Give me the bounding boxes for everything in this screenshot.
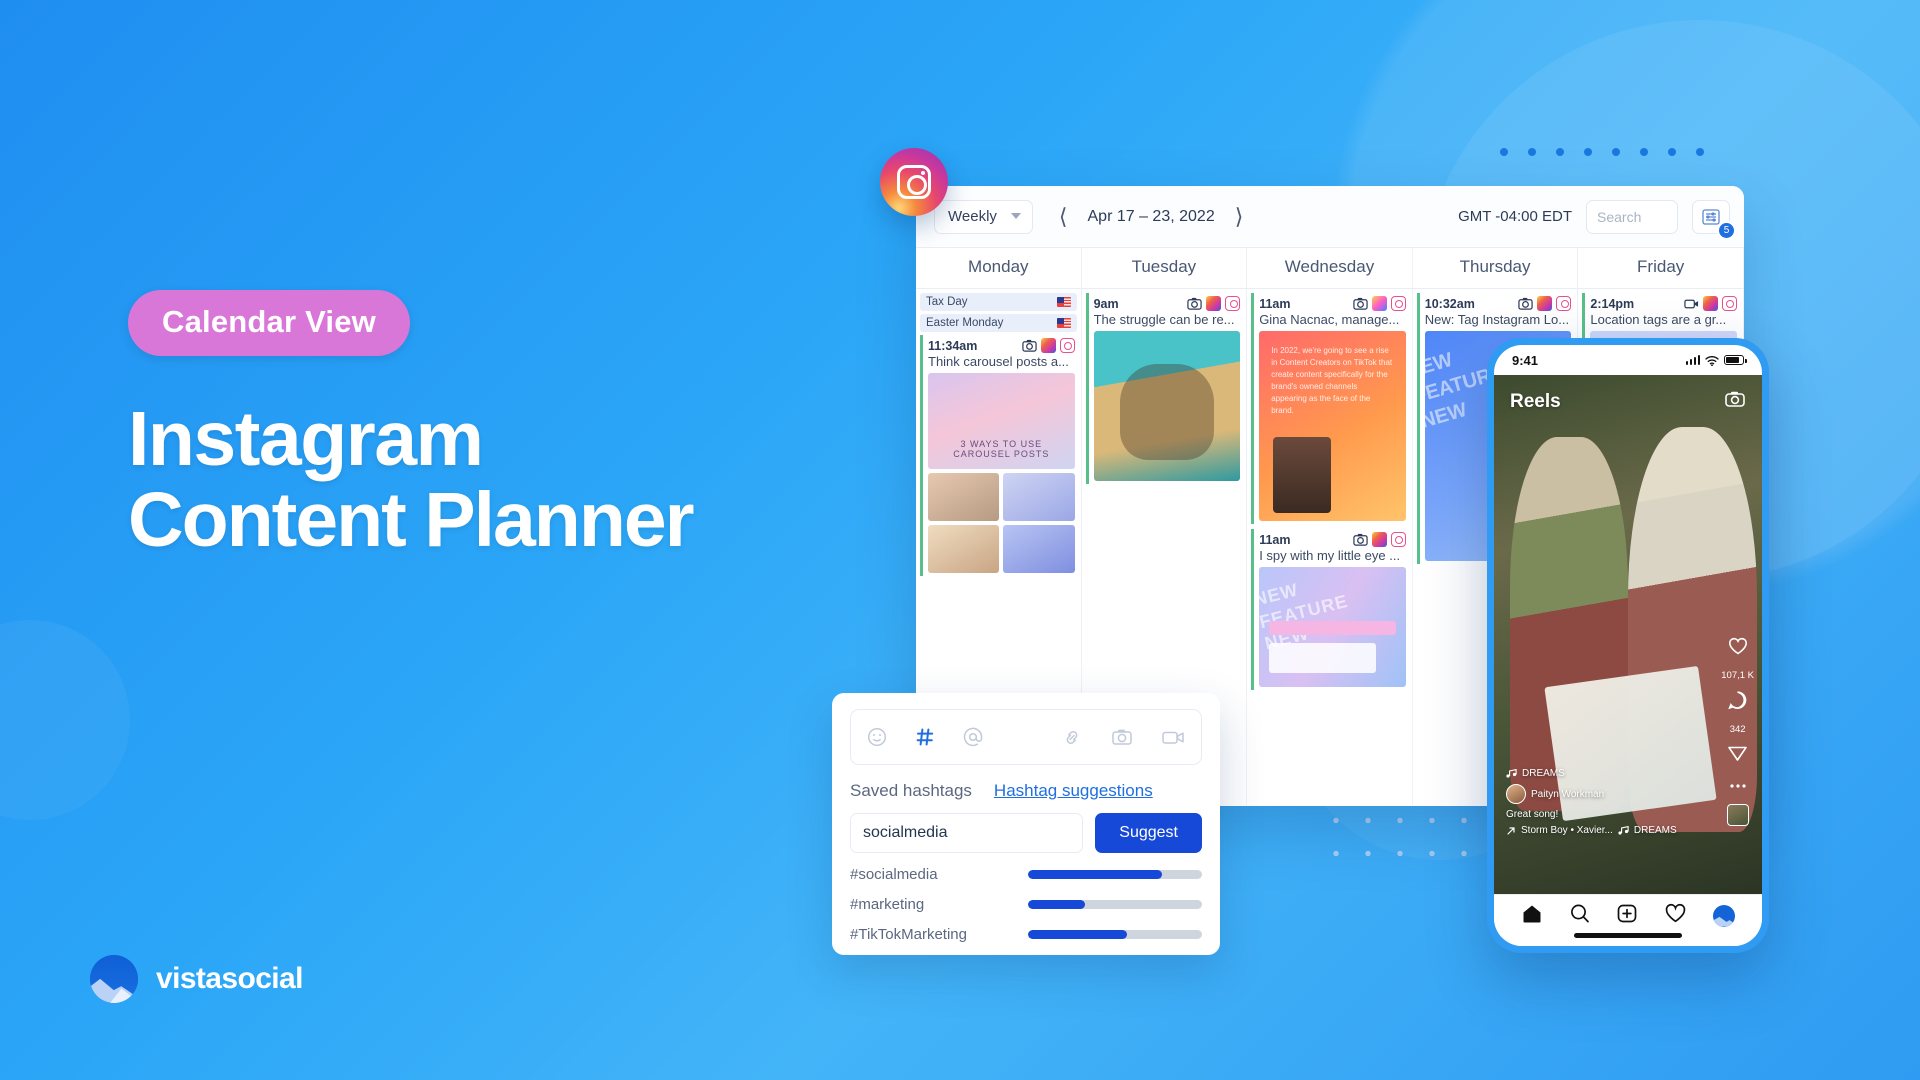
post-icon-group xyxy=(1187,296,1240,311)
gradient-square-icon xyxy=(1206,296,1221,311)
audio-thumbnail-icon[interactable] xyxy=(1727,804,1749,826)
reel-audio-track: Storm Boy • Xavier... xyxy=(1521,825,1613,836)
video-camera-icon xyxy=(1684,296,1699,311)
us-flag-icon xyxy=(1057,297,1071,307)
post-icon-group xyxy=(1353,296,1406,311)
hashtag-suggestion-row: #TikTokMarketing xyxy=(850,926,1202,943)
composer-toolbar xyxy=(850,709,1202,765)
reels-video[interactable]: Reels 107,1 K 342 xyxy=(1494,375,1762,894)
filter-settings-button[interactable]: 5 xyxy=(1692,200,1730,234)
comment-icon[interactable] xyxy=(1727,690,1748,715)
thumbnail-tile xyxy=(928,525,999,573)
hashtag-suggestion-row: #socialmedia xyxy=(850,866,1202,883)
post-time: 11am xyxy=(1259,533,1290,547)
cellular-bars-icon xyxy=(1686,355,1701,365)
gradient-square-icon xyxy=(1537,296,1552,311)
mention-icon[interactable] xyxy=(963,727,983,747)
instagram-icon xyxy=(1060,338,1075,353)
gradient-square-icon xyxy=(1372,532,1387,547)
chevron-right-icon[interactable]: ⟩ xyxy=(1231,204,1248,230)
us-flag-icon xyxy=(1057,318,1071,328)
reels-title: Reels xyxy=(1510,391,1561,413)
activity-heart-icon[interactable] xyxy=(1664,903,1687,929)
add-post-icon[interactable] xyxy=(1616,903,1638,929)
audio-tag-label-bottom: DREAMS xyxy=(1634,825,1677,836)
emoji-icon[interactable] xyxy=(867,727,887,747)
timezone-label: GMT -04:00 EDT xyxy=(1458,208,1572,225)
hashtag-label: #socialmedia xyxy=(850,866,1028,883)
agorapulse-icon xyxy=(1372,296,1387,311)
post-thumbnail xyxy=(1094,331,1241,481)
more-dots-icon[interactable] xyxy=(1728,777,1748,795)
calendar-post-card[interactable]: 11am Gina Nacnac, manage... In 2022, we'… xyxy=(1251,293,1408,524)
filter-count-badge: 5 xyxy=(1717,221,1736,240)
day-header-wednesday: Wednesday xyxy=(1247,248,1413,288)
post-text: Gina Nacnac, manage... xyxy=(1259,312,1406,327)
phone-mockup: 9:41 Reels 107,1 K xyxy=(1487,338,1769,953)
hashtag-panel: Saved hashtags Hashtag suggestions socia… xyxy=(832,693,1220,955)
chevron-down-icon xyxy=(1011,213,1021,219)
instagram-icon xyxy=(1391,532,1406,547)
reel-caption-text-row: Great song! xyxy=(1506,809,1677,820)
post-thumbnail: NEW FEATURE NEW xyxy=(1259,567,1406,687)
day-column-wednesday: 11am Gina Nacnac, manage... In 2022, we'… xyxy=(1247,289,1413,805)
holiday-chip: Easter Monday xyxy=(920,314,1077,332)
holiday-label: Easter Monday xyxy=(926,317,1003,329)
reel-caption-text: Great song! xyxy=(1506,809,1558,820)
instagram-logo-badge xyxy=(880,148,948,216)
gradient-square-icon xyxy=(1041,338,1056,353)
post-text: The struggle can be re... xyxy=(1094,312,1241,327)
post-thumbnail-grid xyxy=(928,473,1075,573)
instagram-icon xyxy=(1391,296,1406,311)
hashtag-suggestion-row: #marketing xyxy=(850,896,1202,913)
reel-action-rail: 107,1 K 342 xyxy=(1721,636,1754,826)
search-input[interactable]: Search xyxy=(1586,200,1678,234)
instagram-icon xyxy=(1556,296,1571,311)
avatar xyxy=(1506,784,1526,804)
hashtag-strength-bar xyxy=(1028,870,1202,879)
instagram-icon xyxy=(1722,296,1737,311)
calendar-post-card[interactable]: 11am I spy with my little eye ... NEW FE… xyxy=(1251,529,1408,690)
hashtag-icon[interactable] xyxy=(915,727,935,747)
date-range-label: Apr 17 – 23, 2022 xyxy=(1088,208,1215,226)
post-icon-group xyxy=(1022,338,1075,353)
tab-hashtag-suggestions[interactable]: Hashtag suggestions xyxy=(994,781,1153,801)
hashtag-strength-bar xyxy=(1028,930,1202,939)
post-thumbnail-caption: 3 WAYS TO USE CAROUSEL POSTS xyxy=(936,439,1067,459)
vistasocial-mountain-logo-icon xyxy=(90,955,138,1003)
audio-note-icon xyxy=(1506,769,1517,778)
wifi-icon xyxy=(1705,355,1719,366)
thumbnail-portrait xyxy=(1273,437,1331,513)
page-title: Instagram Content Planner xyxy=(128,402,848,557)
camera-icon xyxy=(1353,532,1368,547)
camera-icon xyxy=(1353,296,1368,311)
instagram-icon xyxy=(1225,296,1240,311)
day-header-monday: Monday xyxy=(916,248,1082,288)
search-icon[interactable] xyxy=(1569,903,1591,929)
hashtag-label: #TikTokMarketing xyxy=(850,926,1028,943)
chevron-left-icon[interactable]: ⟨ xyxy=(1055,204,1072,230)
post-text: Think carousel posts a... xyxy=(928,354,1075,369)
post-thumbnail-quote: In 2022, we're going to see a rise in Co… xyxy=(1271,345,1394,417)
post-thumbnail: 3 WAYS TO USE CAROUSEL POSTS xyxy=(928,373,1075,469)
post-time: 11am xyxy=(1259,297,1290,311)
calendar-post-card[interactable]: 11:34am Think carousel posts a... 3 WAYS… xyxy=(920,335,1077,576)
reel-audio-row[interactable]: Storm Boy • Xavier... DREAMS xyxy=(1506,825,1677,836)
post-icon-group xyxy=(1518,296,1571,311)
page-title-line-1: Instagram xyxy=(128,396,483,482)
post-text: I spy with my little eye ... xyxy=(1259,548,1406,563)
view-select-weekly[interactable]: Weekly xyxy=(934,200,1033,234)
instagram-icon xyxy=(897,165,931,199)
hero-section: Calendar View Instagram Content Planner xyxy=(128,290,848,557)
calendar-day-headers: Monday Tuesday Wednesday Thursday Friday xyxy=(916,248,1744,289)
link-icon[interactable] xyxy=(1061,727,1083,747)
post-text: Location tags are a gr... xyxy=(1590,312,1737,327)
camera-icon xyxy=(1187,296,1202,311)
post-icon-group xyxy=(1353,532,1406,547)
hashtag-strength-bar xyxy=(1028,900,1202,909)
holiday-label: Tax Day xyxy=(926,296,968,308)
camera-icon xyxy=(1518,296,1533,311)
camera-icon[interactable] xyxy=(1111,727,1133,747)
profile-avatar-icon[interactable] xyxy=(1713,905,1735,927)
brand-logo: vistasocial xyxy=(90,955,303,1003)
post-time: 9am xyxy=(1094,297,1119,311)
day-header-friday: Friday xyxy=(1578,248,1744,288)
hashtag-input[interactable]: socialmedia xyxy=(850,813,1083,853)
camera-icon xyxy=(1022,338,1037,353)
status-time: 9:41 xyxy=(1512,353,1538,368)
toolbar-right-group: GMT -04:00 EDT Search 5 xyxy=(1458,200,1730,234)
phone-screen: 9:41 Reels 107,1 K xyxy=(1494,345,1762,946)
video-icon[interactable] xyxy=(1161,727,1185,747)
date-navigation: ⟨ Apr 17 – 23, 2022 ⟩ xyxy=(1055,204,1247,230)
like-count: 107,1 K xyxy=(1721,670,1754,681)
page-title-line-2: Content Planner xyxy=(128,483,848,558)
audio-note-icon xyxy=(1618,826,1629,835)
home-icon[interactable] xyxy=(1521,903,1543,929)
view-select-label: Weekly xyxy=(948,208,997,225)
reel-caption-block: DREAMS Paityn Workman Great song! Storm … xyxy=(1506,763,1677,836)
post-time: 11:34am xyxy=(928,339,977,353)
reel-audio-tag-top: DREAMS xyxy=(1506,768,1677,779)
tab-saved-hashtags[interactable]: Saved hashtags xyxy=(850,781,972,801)
dot-row-decoration xyxy=(1500,148,1704,156)
share-paperplane-icon[interactable] xyxy=(1727,744,1748,768)
audio-tag-label: DREAMS xyxy=(1522,768,1565,779)
thumbnail-tile xyxy=(1003,525,1074,573)
gradient-square-icon xyxy=(1703,296,1718,311)
calendar-toolbar: Weekly ⟨ Apr 17 – 23, 2022 ⟩ GMT -04:00 … xyxy=(916,186,1744,248)
post-time: 10:32am xyxy=(1425,297,1475,311)
post-time: 2:14pm xyxy=(1590,297,1634,311)
audio-arrow-icon xyxy=(1506,826,1516,836)
status-bar: 9:41 xyxy=(1494,345,1762,375)
phone-tab-bar xyxy=(1494,894,1762,946)
brand-name: vistasocial xyxy=(156,962,303,996)
hashtag-search-row: socialmedia Suggest xyxy=(850,813,1202,853)
thumbnail-tile xyxy=(1003,473,1074,521)
comment-count: 342 xyxy=(1730,724,1746,735)
day-header-thursday: Thursday xyxy=(1413,248,1579,288)
home-indicator xyxy=(1574,933,1682,938)
post-icon-group xyxy=(1684,296,1737,311)
reel-username: Paityn Workman xyxy=(1531,789,1604,800)
suggest-button[interactable]: Suggest xyxy=(1095,813,1202,853)
reel-user-row[interactable]: Paityn Workman xyxy=(1506,784,1677,804)
hashtag-tabs: Saved hashtags Hashtag suggestions xyxy=(850,781,1202,801)
calendar-view-badge: Calendar View xyxy=(128,290,410,356)
reels-header: Reels xyxy=(1494,375,1762,428)
battery-icon xyxy=(1724,355,1744,365)
calendar-post-card[interactable]: 9am The struggle can be re... xyxy=(1086,293,1243,484)
post-thumbnail: In 2022, we're going to see a rise in Co… xyxy=(1259,331,1406,521)
post-text: New: Tag Instagram Lo... xyxy=(1425,312,1572,327)
hashtag-label: #marketing xyxy=(850,896,1028,913)
filter-settings-icon xyxy=(1702,209,1720,225)
holiday-chip: Tax Day xyxy=(920,293,1077,311)
like-heart-icon[interactable] xyxy=(1727,636,1749,661)
camera-icon[interactable] xyxy=(1724,389,1746,414)
day-header-tuesday: Tuesday xyxy=(1082,248,1248,288)
thumbnail-tile xyxy=(928,473,999,521)
